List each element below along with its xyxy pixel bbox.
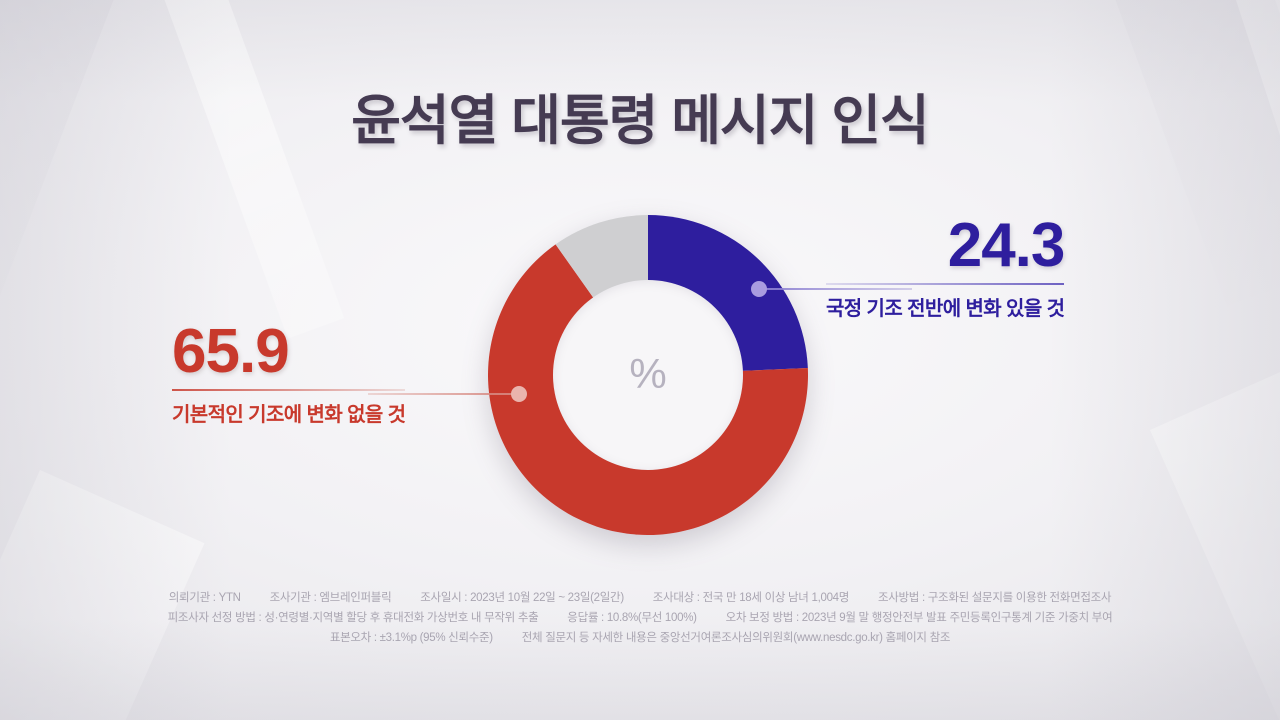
callout-left-description: 기본적인 기조에 변화 없을 것 xyxy=(172,398,405,427)
footnote-line-2: 피조사자 선정 방법 : 성·연령별·지역별 할당 후 휴대전화 가상번호 내 … xyxy=(0,608,1280,628)
footnote-1-4: 조사방법 : 구조화된 설문지를 이용한 전화면접조사 xyxy=(878,588,1111,608)
footnote-1-1: 조사기관 : 엠브레인퍼블릭 xyxy=(270,588,392,608)
footnote-2-1: 응답률 : 10.8%(무선 100%) xyxy=(567,608,696,628)
broadcast-chart-screen: 윤석열 대통령 메시지 인식 % 24.3 국정 기조 전반에 변화 있을 것 … xyxy=(0,0,1280,720)
callout-right-description: 국정 기조 전반에 변화 있을 것 xyxy=(826,292,1064,321)
callout-left[interactable]: 65.9 기본적인 기조에 변화 없을 것 xyxy=(172,322,405,427)
percent-symbol: % xyxy=(629,353,666,395)
footnote-3-0: 표본오차 : ±3.1%p (95% 신뢰수준) xyxy=(330,628,493,648)
callout-right[interactable]: 24.3 국정 기조 전반에 변화 있을 것 xyxy=(826,216,1064,321)
footnote-1-0: 의뢰기관 : YTN xyxy=(169,588,241,608)
footnote-line-1: 의뢰기관 : YTN 조사기관 : 엠브레인퍼블릭 조사일시 : 2023년 1… xyxy=(0,588,1280,608)
callout-left-rule xyxy=(172,389,405,391)
footnote-2-0: 피조사자 선정 방법 : 성·연령별·지역별 할당 후 휴대전화 가상번호 내 … xyxy=(168,608,539,628)
page-title: 윤석열 대통령 메시지 인식 xyxy=(0,76,1280,155)
leader-dot-right xyxy=(751,281,767,297)
footnotes: 의뢰기관 : YTN 조사기관 : 엠브레인퍼블릭 조사일시 : 2023년 1… xyxy=(0,588,1280,648)
donut-center: % xyxy=(553,280,743,470)
footnote-1-3: 조사대상 : 전국 만 18세 이상 남녀 1,004명 xyxy=(653,588,849,608)
donut-chart: % xyxy=(488,215,808,535)
footnote-1-2: 조사일시 : 2023년 10월 22일 ~ 23일(2일간) xyxy=(420,588,624,608)
footnote-2-2: 오차 보정 방법 : 2023년 9월 말 행정안전부 발표 주민등록인구통계 … xyxy=(726,608,1113,628)
footnote-3-1: 전체 질문지 등 자세한 내용은 중앙선거여론조사심의위원회(www.nesdc… xyxy=(522,628,950,648)
callout-right-rule xyxy=(826,283,1064,285)
leader-dot-left xyxy=(511,386,527,402)
callout-right-value: 24.3 xyxy=(826,216,1064,277)
footnote-line-3: 표본오차 : ±3.1%p (95% 신뢰수준) 전체 질문지 등 자세한 내용… xyxy=(0,628,1280,648)
callout-left-value: 65.9 xyxy=(172,322,405,383)
